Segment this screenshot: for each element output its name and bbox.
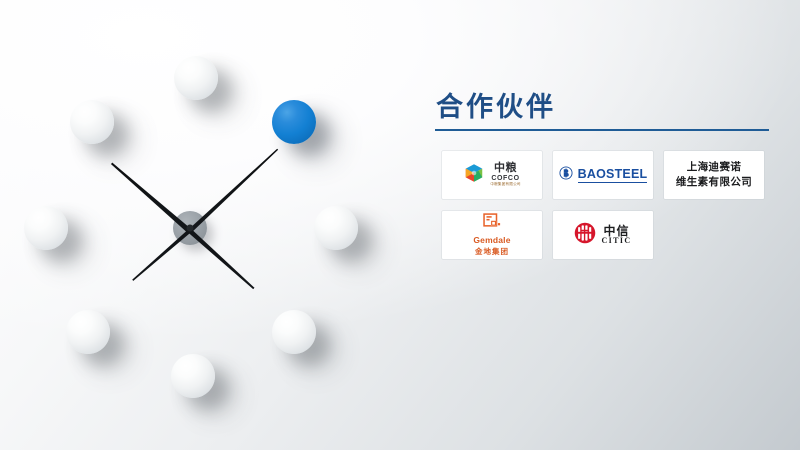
cofco-cn-label: 中粮 [494, 163, 517, 175]
gemdale-en-label: Gemdale [473, 235, 510, 245]
slide-canvas: 合作伙伴 [0, 0, 800, 450]
hour-marker-12 [174, 56, 218, 100]
hour-marker-1 [272, 100, 316, 144]
partner-card-empty-slot [664, 211, 764, 259]
cofco-en-label: COFCO [491, 175, 519, 182]
partner-card-gemdale[interactable]: Gemdale 金地集团 [442, 211, 542, 259]
baosteel-wordmark: BAOSTEEL [578, 167, 648, 183]
page-title: 合作伙伴 [436, 92, 772, 123]
hour-marker-2 [314, 206, 358, 250]
cofco-sub-label: 中粮集团有限公司 [490, 183, 520, 187]
hour-marker-5 [171, 354, 215, 398]
baosteel-circle-icon [559, 166, 573, 185]
clock-center-pin [187, 225, 194, 232]
partner-logo-grid: 中粮 COFCO 中粮集团有限公司 [442, 151, 772, 259]
disino-line-2: 维生素有限公司 [676, 175, 752, 190]
hour-marker-10 [70, 100, 114, 144]
partner-card-citic[interactable]: 中信 CITIC [553, 211, 653, 259]
cofco-wordmark: 中粮 COFCO 中粮集团有限公司 [490, 163, 520, 187]
disino-wordmark: 上海迪赛诺 维生素有限公司 [676, 160, 752, 190]
hour-marker-4 [272, 310, 316, 354]
citic-seal-icon [574, 222, 596, 249]
partners-panel: 合作伙伴 [432, 92, 772, 259]
clock-hour-hand-tail [131, 229, 192, 283]
title-underline [435, 129, 769, 131]
gemdale-square-icon [483, 213, 501, 234]
partner-card-baosteel[interactable]: BAOSTEEL [553, 151, 653, 199]
hour-marker-8 [24, 206, 68, 250]
wall-clock [0, 0, 400, 450]
clock-minute-hand [188, 147, 280, 233]
partner-card-cofco[interactable]: 中粮 COFCO 中粮集团有限公司 [442, 151, 542, 199]
citic-en-label: CITIC [601, 237, 631, 245]
disino-line-1: 上海迪赛诺 [676, 160, 752, 175]
hour-marker-7 [66, 310, 110, 354]
cofco-cube-icon [463, 162, 485, 189]
partner-card-disino[interactable]: 上海迪赛诺 维生素有限公司 [664, 151, 764, 199]
clock-hour-hand [109, 161, 192, 235]
citic-wordmark: 中信 CITIC [601, 225, 631, 246]
gemdale-cn-label: 金地集团 [475, 246, 509, 257]
clock-minute-hand-tail [188, 229, 256, 291]
